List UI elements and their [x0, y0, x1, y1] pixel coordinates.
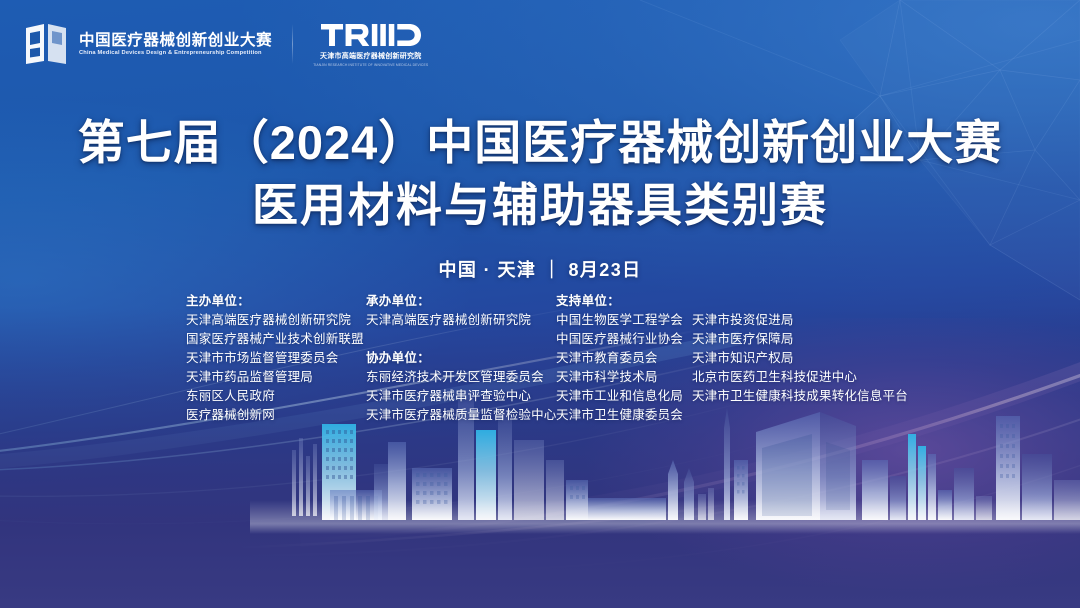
title-line-1: 第七届（2024）中国医疗器械创新创业大赛: [0, 112, 1080, 174]
organizer-column-supporter-a: 支持单位： 中国生物医学工程学会 中国医疗器械行业协会 天津市教育委员会 天津市…: [556, 292, 692, 425]
organizer-heading: 支持单位：: [556, 292, 692, 311]
organizer-item: 国家医疗器械产业技术创新联盟: [186, 330, 366, 349]
organizer-item: 天津市医疗器械质量监督检验中心: [366, 406, 556, 425]
organizer-item: 医疗器械创新网: [186, 406, 366, 425]
organizer-column-host: 主办单位： 天津高端医疗器械创新研究院 国家医疗器械产业技术创新联盟 天津市市场…: [186, 292, 366, 425]
institute-name-cn: 天津市高端医疗器械创新研究院: [320, 51, 422, 61]
location-date-line: 中国 · 天津 ｜ 8月23日: [0, 256, 1080, 282]
organizer-item: 天津市工业和信息化局: [556, 387, 692, 406]
organizer-item: 天津高端医疗器械创新研究院: [366, 311, 556, 330]
organizer-item: 天津市卫生健康科技成果转化信息平台: [692, 387, 902, 406]
poster-title-block: 第七届（2024）中国医疗器械创新创业大赛 医用材料与辅助器具类别赛: [0, 112, 1080, 236]
competition-logo-name-en: China Medical Devices Design & Entrepren…: [79, 50, 276, 57]
organizer-item: 天津市投资促进局: [692, 311, 902, 330]
organizer-item: 中国医疗器械行业协会: [556, 330, 692, 349]
competition-logo[interactable]: 中国医疗器械创新创业大赛 China Medical Devices Desig…: [24, 23, 272, 65]
institute-logo[interactable]: 天津市高端医疗器械创新研究院 TIANJIN RESEARCH INSTITUT…: [313, 22, 428, 67]
organizer-spacer: [366, 330, 556, 349]
organizer-item: 天津市药品监督管理局: [186, 368, 366, 387]
header-logo-bar: 中国医疗器械创新创业大赛 China Medical Devices Desig…: [24, 22, 428, 67]
organizer-item: 天津市知识产权局: [692, 349, 902, 368]
organizer-item: 北京市医药卫生科技促进中心: [692, 368, 902, 387]
organizer-item: 中国生物医学工程学会: [556, 311, 692, 330]
organizer-item: 天津市医疗器械串评查验中心: [366, 387, 556, 406]
organizer-columns: 主办单位： 天津高端医疗器械创新研究院 国家医疗器械产业技术创新联盟 天津市市场…: [186, 292, 902, 425]
organizer-heading: 协办单位：: [366, 349, 556, 368]
organizer-heading-spacer: [692, 292, 902, 311]
institute-name-en: TIANJIN RESEARCH INSTITUTE OF INNOVATIVE…: [313, 63, 428, 67]
open-book-door-logo-icon: [24, 23, 70, 65]
organizer-column-organizer: 承办单位： 天津高端医疗器械创新研究院 协办单位： 东丽经济技术开发区管理委员会…: [366, 292, 556, 425]
organizer-item: 天津市科学技术局: [556, 368, 692, 387]
organizer-item: 天津市卫生健康委员会: [556, 406, 692, 425]
triid-wordmark-icon: [321, 22, 421, 48]
organizer-heading: 主办单位：: [186, 292, 366, 311]
title-line-2: 医用材料与辅助器具类别赛: [0, 174, 1080, 236]
organizer-heading: 承办单位：: [366, 292, 556, 311]
organizer-item: 天津市医疗保障局: [692, 330, 902, 349]
competition-logo-name-cn: 中国医疗器械创新创业大赛: [79, 32, 272, 50]
organizer-item: 东丽区人民政府: [186, 387, 366, 406]
organizer-item: 东丽经济技术开发区管理委员会: [366, 368, 556, 387]
conference-poster: 中国医疗器械创新创业大赛 China Medical Devices Desig…: [0, 0, 1080, 608]
organizer-item: 天津市教育委员会: [556, 349, 692, 368]
logo-divider: [292, 24, 293, 64]
organizer-column-supporter-b: 天津市投资促进局 天津市医疗保障局 天津市知识产权局 北京市医药卫生科技促进中心…: [692, 292, 902, 406]
organizer-item: 天津高端医疗器械创新研究院: [186, 311, 366, 330]
organizer-item: 天津市市场监督管理委员会: [186, 349, 366, 368]
